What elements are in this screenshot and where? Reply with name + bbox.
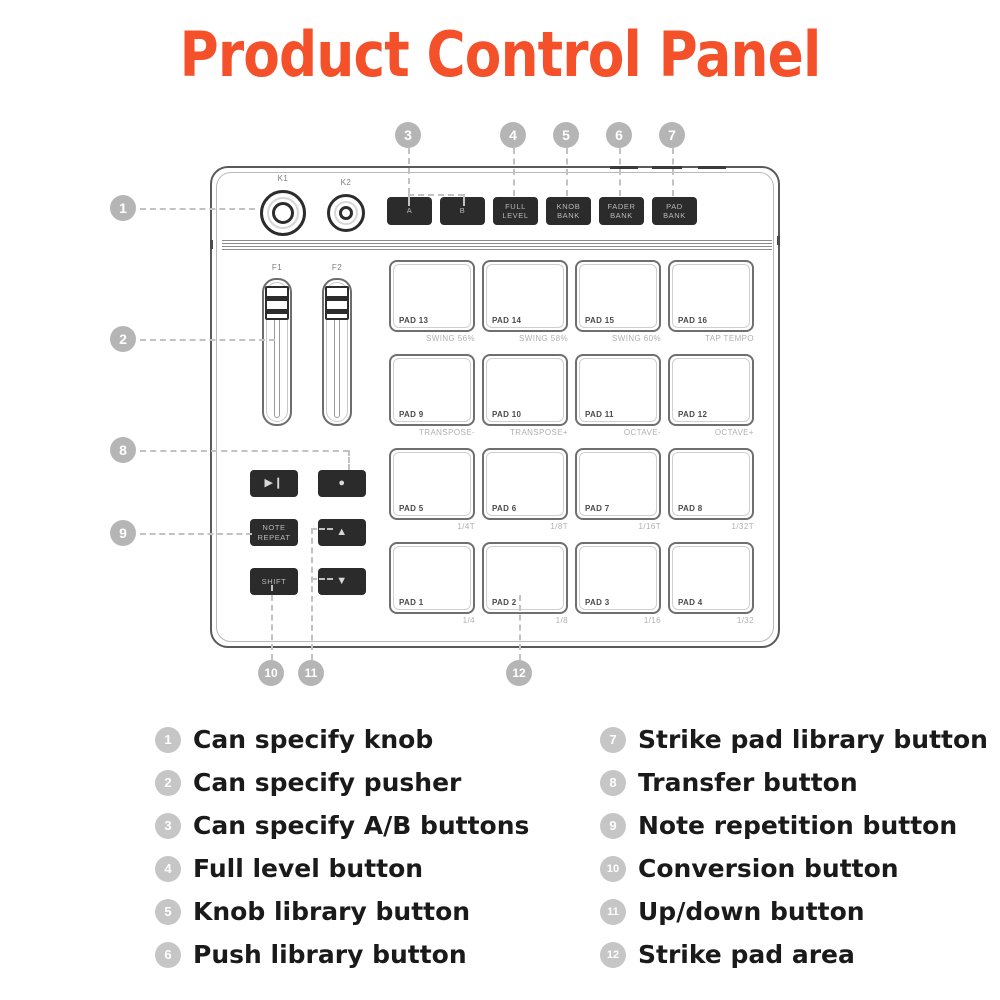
legend-text-1: Can specify knob: [193, 725, 433, 754]
legend-text-11: Up/down button: [638, 897, 865, 926]
pad-16-label: PAD 16: [678, 316, 707, 325]
callout-2-leader: [140, 339, 275, 341]
knob-k1[interactable]: K1: [260, 190, 306, 236]
callout-7-leader: [672, 148, 674, 196]
pad-bank-line1: PAD: [666, 202, 683, 211]
legend-num-11: 11: [600, 899, 626, 925]
callout-4-leader: [513, 148, 515, 196]
legend-num-2: 2: [155, 770, 181, 796]
top-edge-dash-3: [698, 166, 726, 169]
pad-2-sub: 1/8: [482, 616, 568, 625]
pad-2[interactable]: PAD 2: [482, 542, 568, 614]
callout-12-leader: [519, 595, 521, 660]
callout-badge-11: 11: [298, 660, 324, 686]
callout-badge-1: 1: [110, 195, 136, 221]
pad-1-sub: 1/4: [389, 616, 475, 625]
pad-6-sub: 1/8T: [482, 522, 568, 531]
page-title: Product Control Panel: [70, 18, 930, 91]
left-side-notch: [210, 240, 213, 249]
full-level-line2: LEVEL: [502, 211, 528, 220]
legend-column-right: 7 Strike pad library button 8 Transfer b…: [600, 718, 988, 976]
record-icon: ●: [338, 477, 345, 491]
legend-text-10: Conversion button: [638, 854, 899, 883]
pad-12-label: PAD 12: [678, 410, 707, 419]
right-side-notch: [777, 236, 780, 245]
callout-badge-10: 10: [258, 660, 284, 686]
fader-f1[interactable]: F1: [262, 278, 292, 426]
legend-item-1: 1 Can specify knob: [155, 718, 529, 761]
pad-14-sub: SWING 58%: [482, 334, 568, 343]
pad-11-sub: OCTAVE-: [575, 428, 661, 437]
pad-11-label: PAD 11: [585, 410, 614, 419]
knob-k1-dial[interactable]: [260, 190, 306, 236]
fader-f2[interactable]: F2: [322, 278, 352, 426]
callout-3-bracket-left: [408, 194, 410, 206]
pad-7-label: PAD 7: [585, 504, 609, 513]
up-button[interactable]: ▲: [318, 519, 366, 546]
pad-8-sub: 1/32T: [668, 522, 754, 531]
pad-16-sub: TAP TEMPO: [668, 334, 754, 343]
knob-k2-label: K2: [327, 178, 365, 187]
legend-num-3: 3: [155, 813, 181, 839]
pad-5-label: PAD 5: [399, 504, 423, 513]
callout-6-leader: [619, 148, 621, 196]
pad-14-label: PAD 14: [492, 316, 521, 325]
fader-f1-track[interactable]: [262, 278, 292, 426]
legend-item-9: 9 Note repetition button: [600, 804, 988, 847]
legend-item-8: 8 Transfer button: [600, 761, 988, 804]
legend-num-9: 9: [600, 813, 626, 839]
pad-6[interactable]: PAD 6: [482, 448, 568, 520]
record-button[interactable]: ●: [318, 470, 366, 497]
pad-16[interactable]: PAD 16: [668, 260, 754, 332]
legend-text-2: Can specify pusher: [193, 768, 461, 797]
fader-f2-handle[interactable]: [325, 286, 349, 320]
pad-9-sub: TRANSPOSE-: [389, 428, 475, 437]
pad-9-label: PAD 9: [399, 410, 423, 419]
pad-5-sub: 1/4T: [389, 522, 475, 531]
pad-15-label: PAD 15: [585, 316, 614, 325]
pad-1[interactable]: PAD 1: [389, 542, 475, 614]
callout-badge-7: 7: [659, 122, 685, 148]
pad-10[interactable]: PAD 10: [482, 354, 568, 426]
legend-item-4: 4 Full level button: [155, 847, 529, 890]
callout-3-bracket-top: [408, 194, 464, 196]
legend-text-9: Note repetition button: [638, 811, 957, 840]
pad-7[interactable]: PAD 7: [575, 448, 661, 520]
pad-8-label: PAD 8: [678, 504, 702, 513]
callout-badge-8: 8: [110, 437, 136, 463]
callout-badge-12: 12: [506, 660, 532, 686]
legend-text-3: Can specify A/B buttons: [193, 811, 529, 840]
chevron-up-icon: ▲: [336, 526, 348, 540]
callout-3-leader-v: [408, 148, 410, 194]
shift-label: SHIFT: [262, 577, 287, 586]
legend-text-8: Transfer button: [638, 768, 858, 797]
pad-9[interactable]: PAD 9: [389, 354, 475, 426]
shift-button[interactable]: SHIFT: [250, 568, 298, 595]
legend-num-10: 10: [600, 856, 626, 882]
pad-11[interactable]: PAD 11: [575, 354, 661, 426]
callout-11-leader: [311, 528, 313, 660]
note-repeat-button[interactable]: NOTE REPEAT: [250, 519, 298, 546]
down-button[interactable]: ▼: [318, 568, 366, 595]
callout-badge-6: 6: [606, 122, 632, 148]
legend-text-6: Push library button: [193, 940, 467, 969]
pad-12[interactable]: PAD 12: [668, 354, 754, 426]
play-pause-icon: ▶❙: [265, 477, 284, 491]
note-repeat-line2: REPEAT: [257, 533, 290, 542]
knob-k2-dial[interactable]: [327, 194, 365, 232]
legend-num-1: 1: [155, 727, 181, 753]
legend-text-5: Knob library button: [193, 897, 470, 926]
pad-12-sub: OCTAVE+: [668, 428, 754, 437]
device-body: K1 K2 A B FULL LEVEL KNOB BANK FADER BAN…: [210, 166, 780, 648]
callout-10-leader: [271, 585, 273, 660]
legend-item-12: 12 Strike pad area: [600, 933, 988, 976]
chevron-down-icon: ▼: [336, 575, 348, 589]
pad-13-label: PAD 13: [399, 316, 428, 325]
callout-badge-4: 4: [500, 122, 526, 148]
callout-5-leader: [566, 148, 568, 196]
knob-bank-button[interactable]: KNOB BANK: [546, 197, 591, 225]
pad-7-sub: 1/16T: [575, 522, 661, 531]
legend-item-6: 6 Push library button: [155, 933, 529, 976]
pad-4[interactable]: PAD 4: [668, 542, 754, 614]
b-button-label: B: [460, 206, 466, 215]
full-level-line1: FULL: [505, 202, 526, 211]
fader-f1-label: F1: [262, 263, 292, 272]
legend-item-10: 10 Conversion button: [600, 847, 988, 890]
legend-num-8: 8: [600, 770, 626, 796]
legend-text-7: Strike pad library button: [638, 725, 988, 754]
pad-4-sub: 1/32: [668, 616, 754, 625]
legend-item-11: 11 Up/down button: [600, 890, 988, 933]
fader-bank-line1: FADER: [607, 202, 635, 211]
callout-9-leader: [140, 533, 252, 535]
callout-3-bracket-right: [463, 194, 465, 206]
fader-f2-track[interactable]: [322, 278, 352, 426]
pad-2-label: PAD 2: [492, 598, 516, 607]
note-repeat-line1: NOTE: [262, 523, 285, 532]
callout-badge-5: 5: [553, 122, 579, 148]
knob-bank-line1: KNOB: [557, 202, 581, 211]
callout-11-bracket-bot: [311, 578, 333, 580]
grille-lines: [222, 240, 772, 252]
pad-4-label: PAD 4: [678, 598, 702, 607]
legend-num-7: 7: [600, 727, 626, 753]
fader-f2-label: F2: [322, 263, 352, 272]
legend-item-3: 3 Can specify A/B buttons: [155, 804, 529, 847]
fader-bank-button[interactable]: FADER BANK: [599, 197, 644, 225]
pad-14[interactable]: PAD 14: [482, 260, 568, 332]
pad-1-label: PAD 1: [399, 598, 423, 607]
top-edge-dash-2: [652, 166, 682, 169]
callout-badge-3: 3: [395, 122, 421, 148]
play-pause-button[interactable]: ▶❙: [250, 470, 298, 497]
pad-5[interactable]: PAD 5: [389, 448, 475, 520]
knob-k2[interactable]: K2: [327, 194, 365, 232]
legend-item-2: 2 Can specify pusher: [155, 761, 529, 804]
pad-bank-line2: BANK: [663, 211, 686, 220]
legend-text-4: Full level button: [193, 854, 423, 883]
top-edge-dash-1: [610, 166, 638, 169]
pad-3[interactable]: PAD 3: [575, 542, 661, 614]
pad-3-sub: 1/16: [575, 616, 661, 625]
fader-f1-handle[interactable]: [265, 286, 289, 320]
knob-bank-line2: BANK: [557, 211, 580, 220]
pad-10-sub: TRANSPOSE+: [482, 428, 568, 437]
pad-15-sub: SWING 60%: [575, 334, 661, 343]
pad-bank-button[interactable]: PAD BANK: [652, 197, 697, 225]
callout-1-leader: [140, 208, 255, 210]
callout-11-bracket-top: [311, 528, 333, 530]
pad-6-label: PAD 6: [492, 504, 516, 513]
legend-num-5: 5: [155, 899, 181, 925]
legend-text-12: Strike pad area: [638, 940, 855, 969]
pad-8[interactable]: PAD 8: [668, 448, 754, 520]
pad-15[interactable]: PAD 15: [575, 260, 661, 332]
callout-8-leader-v: [348, 450, 350, 470]
legend-num-12: 12: [600, 942, 626, 968]
pad-3-label: PAD 3: [585, 598, 609, 607]
callout-8-leader-h: [140, 450, 349, 452]
full-level-button[interactable]: FULL LEVEL: [493, 197, 538, 225]
callout-badge-9: 9: [110, 520, 136, 546]
legend-num-4: 4: [155, 856, 181, 882]
legend-column-left: 1 Can specify knob 2 Can specify pusher …: [155, 718, 529, 976]
legend-num-6: 6: [155, 942, 181, 968]
pad-13-sub: SWING 56%: [389, 334, 475, 343]
pad-13[interactable]: PAD 13: [389, 260, 475, 332]
pad-10-label: PAD 10: [492, 410, 521, 419]
a-button-label: A: [407, 206, 413, 215]
callout-badge-2: 2: [110, 326, 136, 352]
legend: 1 Can specify knob 2 Can specify pusher …: [0, 718, 1000, 1000]
legend-item-5: 5 Knob library button: [155, 890, 529, 933]
fader-bank-line2: BANK: [610, 211, 633, 220]
legend-item-7: 7 Strike pad library button: [600, 718, 988, 761]
knob-k1-label: K1: [260, 174, 306, 183]
